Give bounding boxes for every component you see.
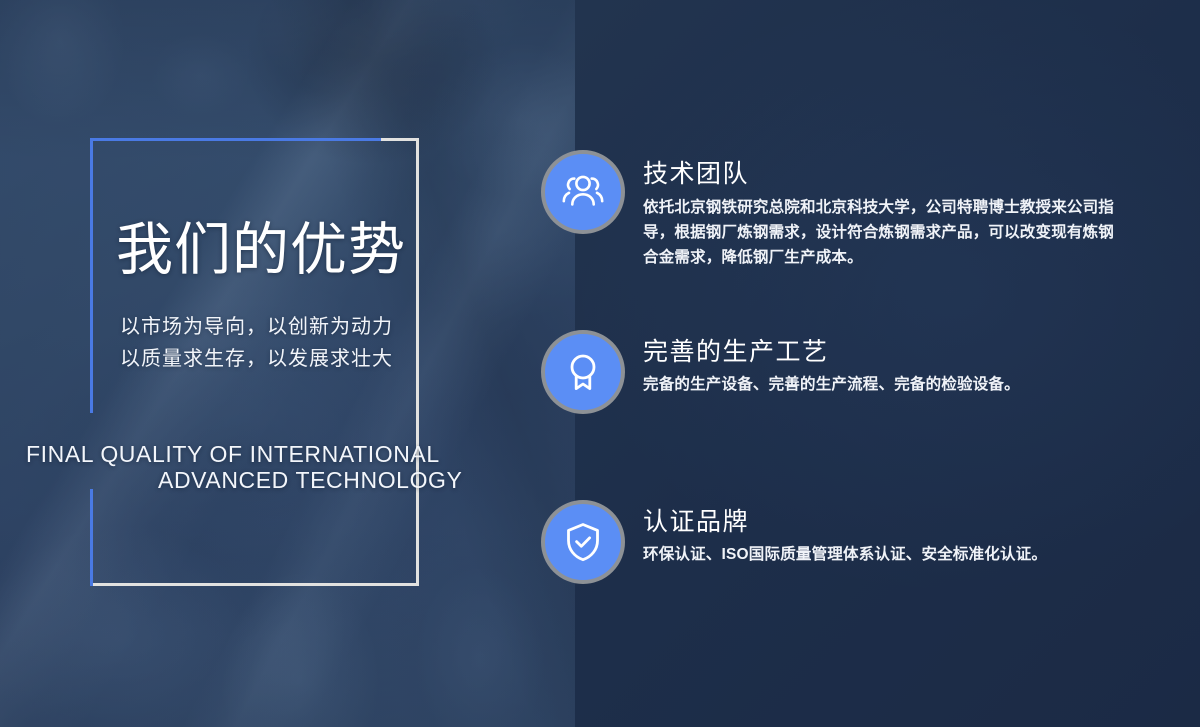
feature-description: 完备的生产设备、完善的生产流程、完备的检验设备。 bbox=[643, 372, 1125, 397]
users-group-icon bbox=[541, 150, 625, 234]
feature-block-certified-brand: 认证品牌 环保认证、ISO国际质量管理体系认证、安全标准化认证。 bbox=[0, 492, 1200, 622]
feature-heading: 技术团队 bbox=[643, 154, 749, 190]
feature-description: 环保认证、ISO国际质量管理体系认证、安全标准化认证。 bbox=[643, 542, 1125, 567]
shield-check-icon bbox=[541, 500, 625, 584]
feature-block-production-process: 完善的生产工艺 完备的生产设备、完善的生产流程、完备的检验设备。 bbox=[0, 322, 1200, 452]
feature-block-technical-team: 技术团队 依托北京钢铁研究总院和北京科技大学，公司特聘博士教授来公司指导，根据钢… bbox=[0, 142, 1200, 272]
frame-top-white-segment bbox=[381, 138, 419, 141]
medal-award-icon bbox=[541, 330, 625, 414]
english-tagline-line-2: ADVANCED TECHNOLOGY bbox=[158, 467, 463, 494]
feature-description: 依托北京钢铁研究总院和北京科技大学，公司特聘博士教授来公司指导，根据钢厂炼钢需求… bbox=[643, 195, 1125, 270]
feature-heading: 完善的生产工艺 bbox=[643, 332, 829, 368]
feature-heading: 认证品牌 bbox=[643, 502, 749, 538]
frame-top-blue-segment bbox=[90, 138, 383, 141]
advantages-slide: 我们的优势 以市场为导向，以创新为动力 以质量求生存，以发展求壮大 FINAL … bbox=[0, 0, 1200, 727]
